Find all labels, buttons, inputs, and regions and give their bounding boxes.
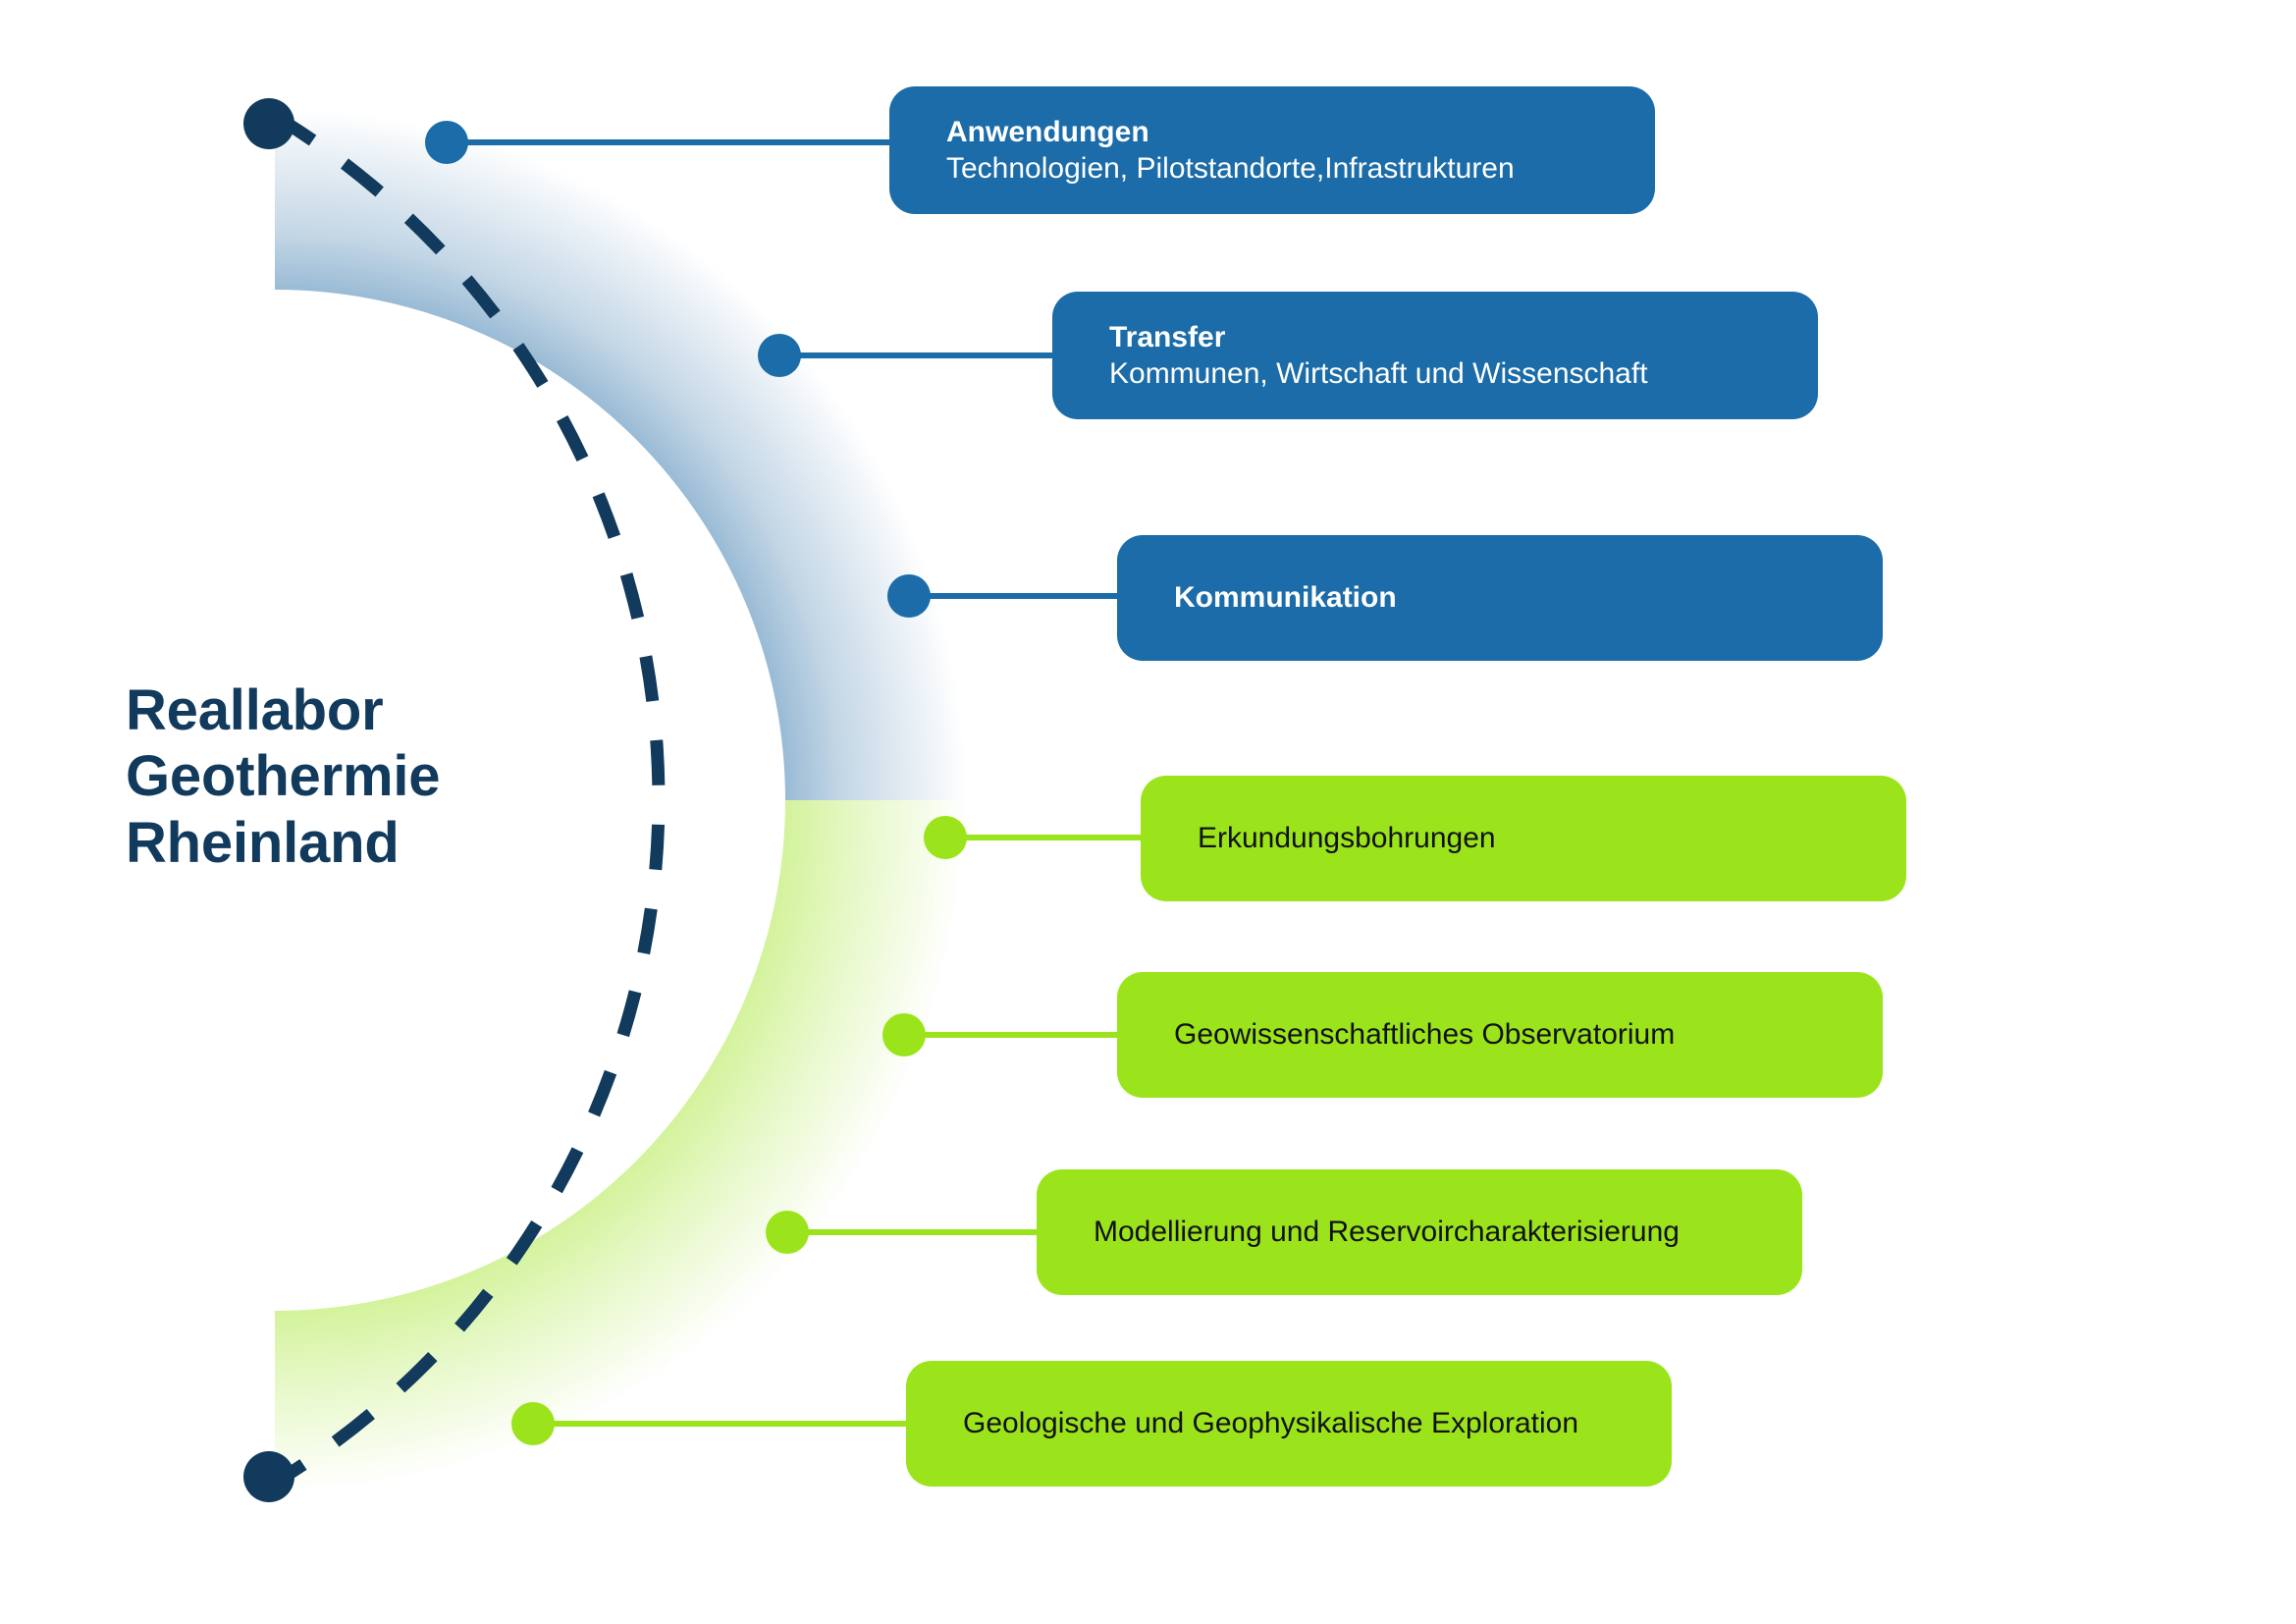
callout-kommunikation-title: Kommunikation: [1117, 579, 1883, 617]
callout-kommunikation[interactable]: Kommunikation: [1117, 535, 1883, 661]
callout-exploration-label: Geologische und Geophysikalische Explora…: [906, 1405, 1672, 1442]
connector-dot-modellierung: [766, 1211, 809, 1254]
callout-anwendungen[interactable]: Anwendungen Technologien, Pilotstandorte…: [889, 86, 1655, 214]
connector-dot-erkundungsbohrungen: [924, 816, 967, 859]
callout-erkundungsbohrungen-label: Erkundungsbohrungen: [1141, 820, 1906, 857]
callout-modellierung[interactable]: Modellierung und Reservoircharakterisier…: [1037, 1169, 1802, 1295]
callout-modellierung-label: Modellierung und Reservoircharakterisier…: [1037, 1214, 1802, 1251]
callout-transfer-subtitle: Kommunen, Wirtschaft und Wissenschaft: [1052, 355, 1818, 393]
callout-transfer-title: Transfer: [1052, 319, 1818, 356]
connector-dot-exploration: [511, 1402, 555, 1445]
callout-observatorium[interactable]: Geowissenschaftliches Observatorium: [1117, 972, 1883, 1098]
callout-transfer[interactable]: Transfer Kommunen, Wirtschaft und Wissen…: [1052, 292, 1818, 419]
callout-exploration[interactable]: Geologische und Geophysikalische Explora…: [906, 1361, 1672, 1487]
callout-anwendungen-title: Anwendungen: [889, 114, 1655, 151]
callout-anwendungen-subtitle: Technologien, Pilotstandorte,Infrastrukt…: [889, 150, 1655, 188]
callout-observatorium-label: Geowissenschaftliches Observatorium: [1117, 1016, 1883, 1054]
connector-dot-anwendungen: [425, 121, 468, 164]
connector-dot-transfer: [758, 334, 801, 377]
connector-dot-observatorium: [882, 1013, 926, 1056]
arc-endpoint-dot-bottom: [243, 1451, 294, 1502]
center-title: Reallabor Geothermie Rheinland: [126, 677, 518, 876]
arc-endpoint-dot-top: [243, 98, 294, 149]
diagram-canvas: Reallabor Geothermie Rheinland Anwendung…: [0, 0, 2296, 1624]
callout-erkundungsbohrungen[interactable]: Erkundungsbohrungen: [1141, 776, 1906, 901]
connector-dot-kommunikation: [887, 574, 931, 618]
